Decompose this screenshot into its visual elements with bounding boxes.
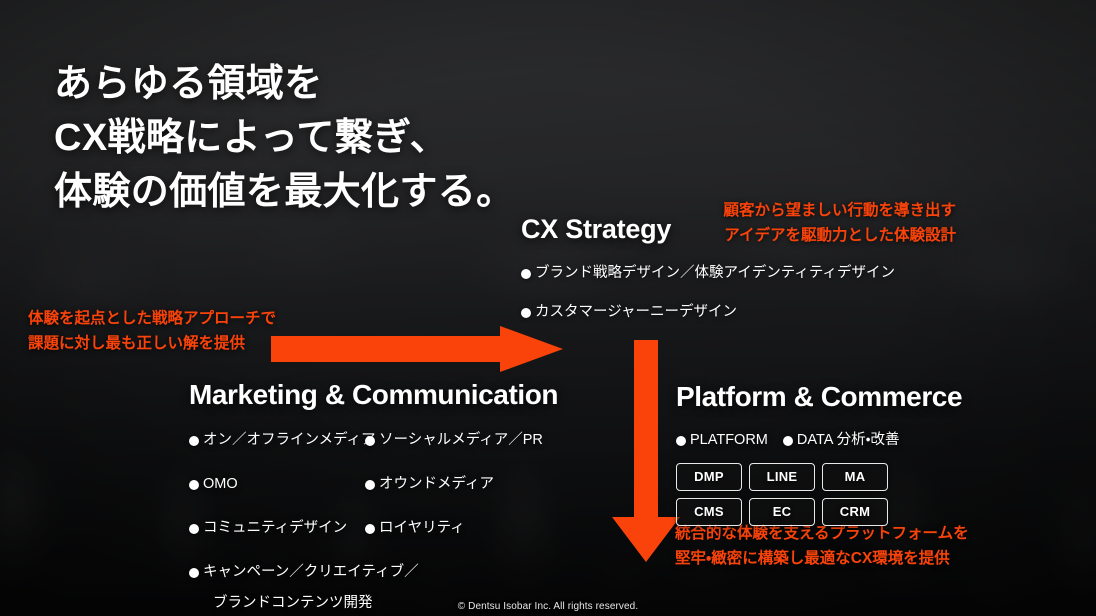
tag-dmp[interactable]: DMP: [676, 463, 742, 491]
section-cx-strategy: CX Strategy ブランド戦略デザイン／体験アイデンティティデザイン カス…: [521, 214, 895, 342]
note-left: 体験を起点とした戦略アプローチで 課題に対し最も正しい解を提供: [28, 306, 276, 356]
section-platform-commerce: Platform & Commerce PLATFORM DATA 分析・改善 …: [676, 381, 962, 526]
bullet-dot-icon: [676, 436, 686, 446]
note-bottom-right: 統合的な体験を支えるプラットフォームを 堅牢・緻密に構築し最適なCX環境を提供: [675, 521, 969, 571]
list-item: コミュニティデザイン: [189, 519, 365, 538]
list-item-label: カスタマージャーニーデザイン: [535, 303, 737, 322]
section-title-cx-strategy: CX Strategy: [521, 214, 895, 245]
bullet-dot-icon: [189, 568, 199, 578]
bullet-dot-icon: [365, 436, 375, 446]
list-item-label: PLATFORM: [690, 431, 768, 450]
list-item: PLATFORM: [676, 431, 768, 450]
list-item: ソーシャルメディア／PR: [365, 431, 565, 450]
bullet-dot-icon: [189, 436, 199, 446]
marketing-bullet-list-left: オン／オフラインメディア OMO コミュニティデザイン キャンペーン／クリエイテ…: [189, 431, 365, 613]
section-title-marketing: Marketing & Communication: [189, 379, 565, 411]
list-item-label: DATA 分析・改善: [797, 431, 900, 450]
right-arrow-icon: [271, 326, 563, 372]
platform-tag-grid: DMP LINE MA CMS EC CRM: [676, 463, 962, 526]
slide-canvas: あらゆる領域を CX戦略によって繋ぎ、 体験の価値を最大化する。 顧客から望まし…: [0, 0, 1096, 616]
bullet-dot-icon: [521, 269, 531, 279]
headline-line-1: あらゆる領域を: [54, 58, 515, 112]
marketing-bullet-columns: オン／オフラインメディア OMO コミュニティデザイン キャンペーン／クリエイテ…: [189, 431, 565, 613]
list-item: ブランド戦略デザイン／体験アイデンティティデザイン: [521, 264, 895, 283]
bullet-dot-icon: [783, 436, 793, 446]
list-item: ロイヤリティ: [365, 519, 565, 538]
tag-line[interactable]: LINE: [749, 463, 815, 491]
tag-ma[interactable]: MA: [822, 463, 888, 491]
headline-line-2: CX戦略によって繋ぎ、: [54, 112, 515, 166]
note-left-line-2: 課題に対し最も正しい解を提供: [28, 331, 276, 356]
bullet-dot-icon: [189, 524, 199, 534]
tag-crm[interactable]: CRM: [822, 498, 888, 526]
note-bottom-right-line-2: 堅牢・緻密に構築し最適なCX環境を提供: [675, 546, 969, 571]
headline: あらゆる領域を CX戦略によって繋ぎ、 体験の価値を最大化する。: [54, 58, 515, 220]
list-item-label: ロイヤリティ: [379, 519, 465, 538]
list-item: オン／オフラインメディア: [189, 431, 365, 450]
tag-ec[interactable]: EC: [749, 498, 815, 526]
list-item-label: OMO: [203, 475, 238, 494]
tag-cms[interactable]: CMS: [676, 498, 742, 526]
cx-strategy-bullet-list: ブランド戦略デザイン／体験アイデンティティデザイン カスタマージャーニーデザイン: [521, 264, 895, 322]
list-item: DATA 分析・改善: [783, 431, 900, 450]
list-item-label: コミュニティデザイン: [203, 519, 347, 538]
section-title-platform: Platform & Commerce: [676, 381, 962, 413]
list-item-label: オウンドメディア: [379, 475, 494, 494]
bullet-dot-icon: [365, 524, 375, 534]
footer-copyright: © Dentsu Isobar Inc. All rights reserved…: [0, 601, 1096, 612]
platform-inline-bullets: PLATFORM DATA 分析・改善: [676, 431, 962, 450]
bullet-dot-icon: [365, 480, 375, 490]
bullet-dot-icon: [189, 480, 199, 490]
bullet-dot-icon: [521, 308, 531, 318]
list-item: オウンドメディア: [365, 475, 565, 494]
list-item-label: オン／オフラインメディア: [203, 431, 376, 450]
marketing-bullet-list-right: ソーシャルメディア／PR オウンドメディア ロイヤリティ: [365, 431, 565, 613]
down-arrow-icon: [612, 340, 680, 562]
list-item-label: ブランド戦略デザイン／体験アイデンティティデザイン: [535, 264, 895, 283]
headline-line-3: 体験の価値を最大化する。: [54, 166, 515, 220]
note-left-line-1: 体験を起点とした戦略アプローチで: [28, 306, 276, 331]
list-item-label: ソーシャルメディア／PR: [379, 431, 543, 450]
list-item: カスタマージャーニーデザイン: [521, 303, 895, 322]
section-marketing-communication: Marketing & Communication オン／オフラインメディア O…: [189, 379, 565, 613]
list-item: OMO: [189, 475, 365, 494]
